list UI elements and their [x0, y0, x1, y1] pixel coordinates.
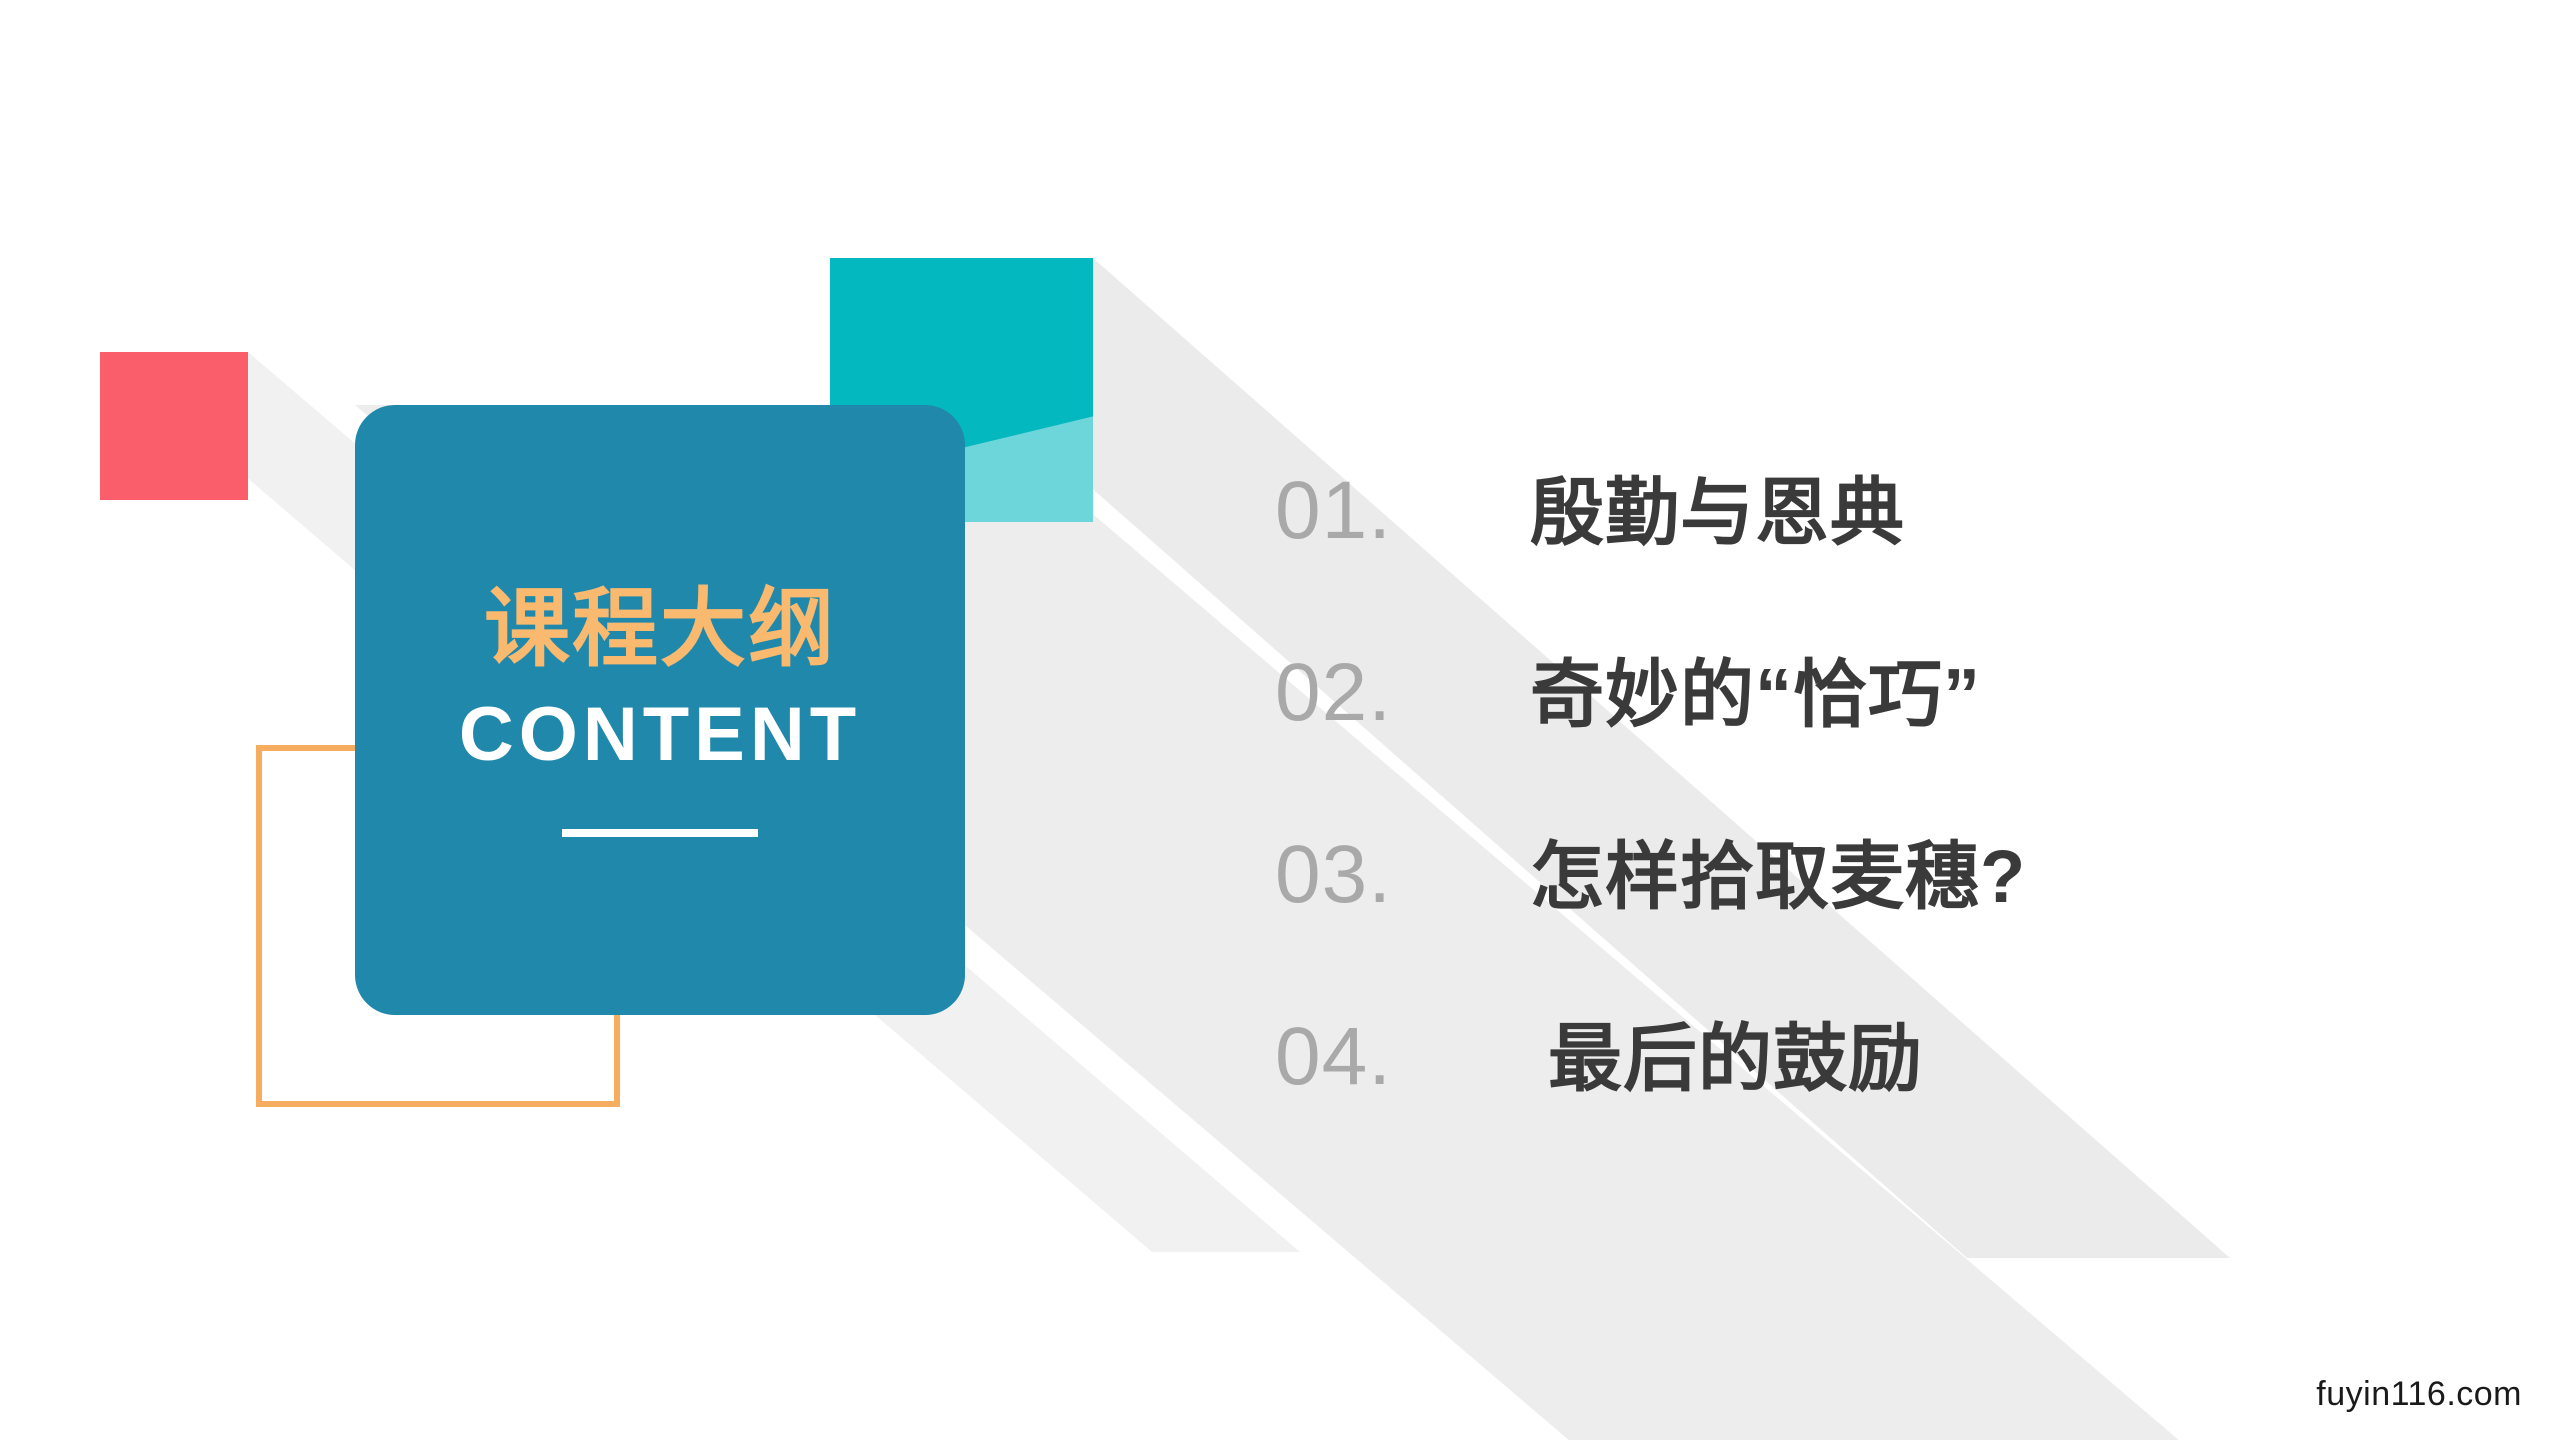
card-title-chinese: 课程大纲	[484, 583, 836, 676]
slide-canvas: 课程大纲 CONTENT 01. 殷勤与恩典 02. 奇妙的“恰巧” 03. 怎…	[0, 0, 2560, 1440]
watermark-text: fuyin116.com	[2316, 1375, 2522, 1414]
toc-item-label: 怎样拾取麦穗?	[1530, 840, 2026, 914]
toc-item-01[interactable]: 01. 殷勤与恩典	[1275, 470, 2375, 652]
content-card: 课程大纲 CONTENT	[355, 405, 965, 1015]
toc-item-number: 03.	[1275, 834, 1530, 916]
toc-item-03[interactable]: 03. 怎样拾取麦穗?	[1275, 834, 2375, 1016]
toc-item-04[interactable]: 04. 最后的鼓励	[1275, 1016, 2375, 1198]
card-divider-rule	[562, 829, 758, 837]
toc-item-number: 01.	[1275, 470, 1530, 552]
toc-item-label: 殷勤与恩典	[1530, 476, 1905, 550]
toc-item-label: 最后的鼓励	[1530, 1022, 1923, 1096]
toc-item-number: 02.	[1275, 652, 1530, 734]
card-title-english: CONTENT	[459, 697, 861, 773]
toc-item-label: 奇妙的“恰巧”	[1530, 658, 1981, 732]
table-of-contents: 01. 殷勤与恩典 02. 奇妙的“恰巧” 03. 怎样拾取麦穗? 04. 最后…	[1275, 470, 2375, 1198]
toc-item-02[interactable]: 02. 奇妙的“恰巧”	[1275, 652, 2375, 834]
red-square-decoration	[100, 352, 248, 500]
toc-item-number: 04.	[1275, 1016, 1530, 1098]
